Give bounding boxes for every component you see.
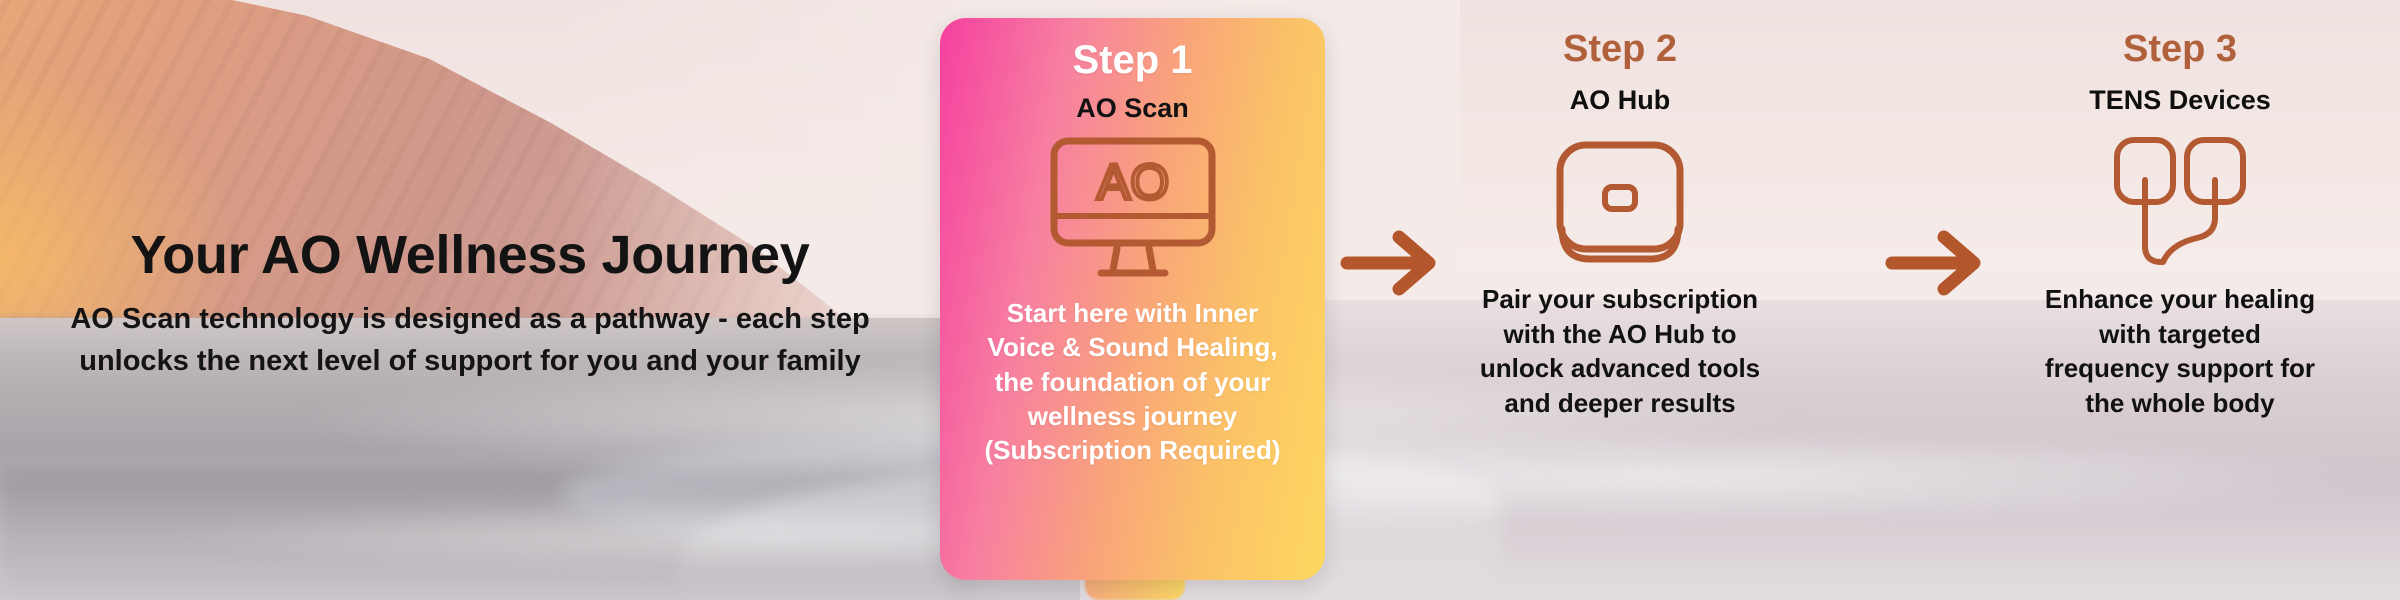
step-2-icon-wrap [1415, 132, 1825, 272]
tens-electrodes-icon [2105, 134, 2255, 270]
step-2-desc-line-2: with the AO Hub to [1415, 317, 1825, 352]
monitor-ao-icon: AO [1048, 136, 1218, 254]
step-2-desc-line-3: unlock advanced tools [1415, 351, 1825, 386]
step-1-desc-line-5: (Subscription Required) [956, 433, 1309, 467]
step-column-3[interactable]: Step 3 TENS Devices Enhance your healing… [1975, 28, 2385, 420]
step-3-desc-line-4: the whole body [1975, 386, 2385, 421]
step-1-description: Start here with Inner Voice & Sound Heal… [940, 296, 1325, 468]
intro-subtitle-line-2: unlocks the next level of support for yo… [0, 341, 940, 382]
step-3-desc-line-3: frequency support for [1975, 351, 2385, 386]
step-3-desc-line-1: Enhance your healing [1975, 282, 2385, 317]
step-2-label: Step 2 [1415, 28, 1825, 71]
step-2-description: Pair your subscription with the AO Hub t… [1415, 282, 1825, 420]
step-2-name: AO Hub [1415, 85, 1825, 116]
step-1-label: Step 1 [940, 38, 1325, 83]
step-3-name: TENS Devices [1975, 85, 2385, 116]
step-2-desc-line-4: and deeper results [1415, 386, 1825, 421]
step-column-2[interactable]: Step 2 AO Hub Pair your subscription wit… [1415, 28, 1825, 420]
intro-block: Your AO Wellness Journey AO Scan technol… [0, 226, 940, 382]
step-1-desc-line-4: wellness journey [956, 399, 1309, 433]
step-2-desc-line-1: Pair your subscription [1415, 282, 1825, 317]
hub-device-icon [1550, 137, 1690, 267]
intro-subtitle-line-1: AO Scan technology is designed as a path… [0, 299, 940, 340]
step-3-description: Enhance your healing with targeted frequ… [1975, 282, 2385, 420]
step-3-desc-line-2: with targeted [1975, 317, 2385, 352]
svg-text:AO: AO [1096, 154, 1168, 210]
step-3-icon-wrap [1975, 132, 2385, 272]
step-3-label: Step 3 [1975, 28, 2385, 71]
step-1-name: AO Scan [940, 93, 1325, 124]
step-1-desc-line-2: Voice & Sound Healing, [956, 330, 1309, 364]
step-1-desc-line-1: Start here with Inner [956, 296, 1309, 330]
intro-subtitle: AO Scan technology is designed as a path… [0, 299, 940, 381]
step-1-icon-wrap: AO [940, 136, 1325, 254]
step-card-1[interactable]: Step 1 AO Scan AO Start here with Inner … [940, 18, 1325, 580]
monitor-stand-icon [1073, 246, 1193, 280]
page-title: Your AO Wellness Journey [0, 226, 940, 285]
monitor-stand-wrap [940, 246, 1325, 280]
step-1-desc-line-3: the foundation of your [956, 365, 1309, 399]
